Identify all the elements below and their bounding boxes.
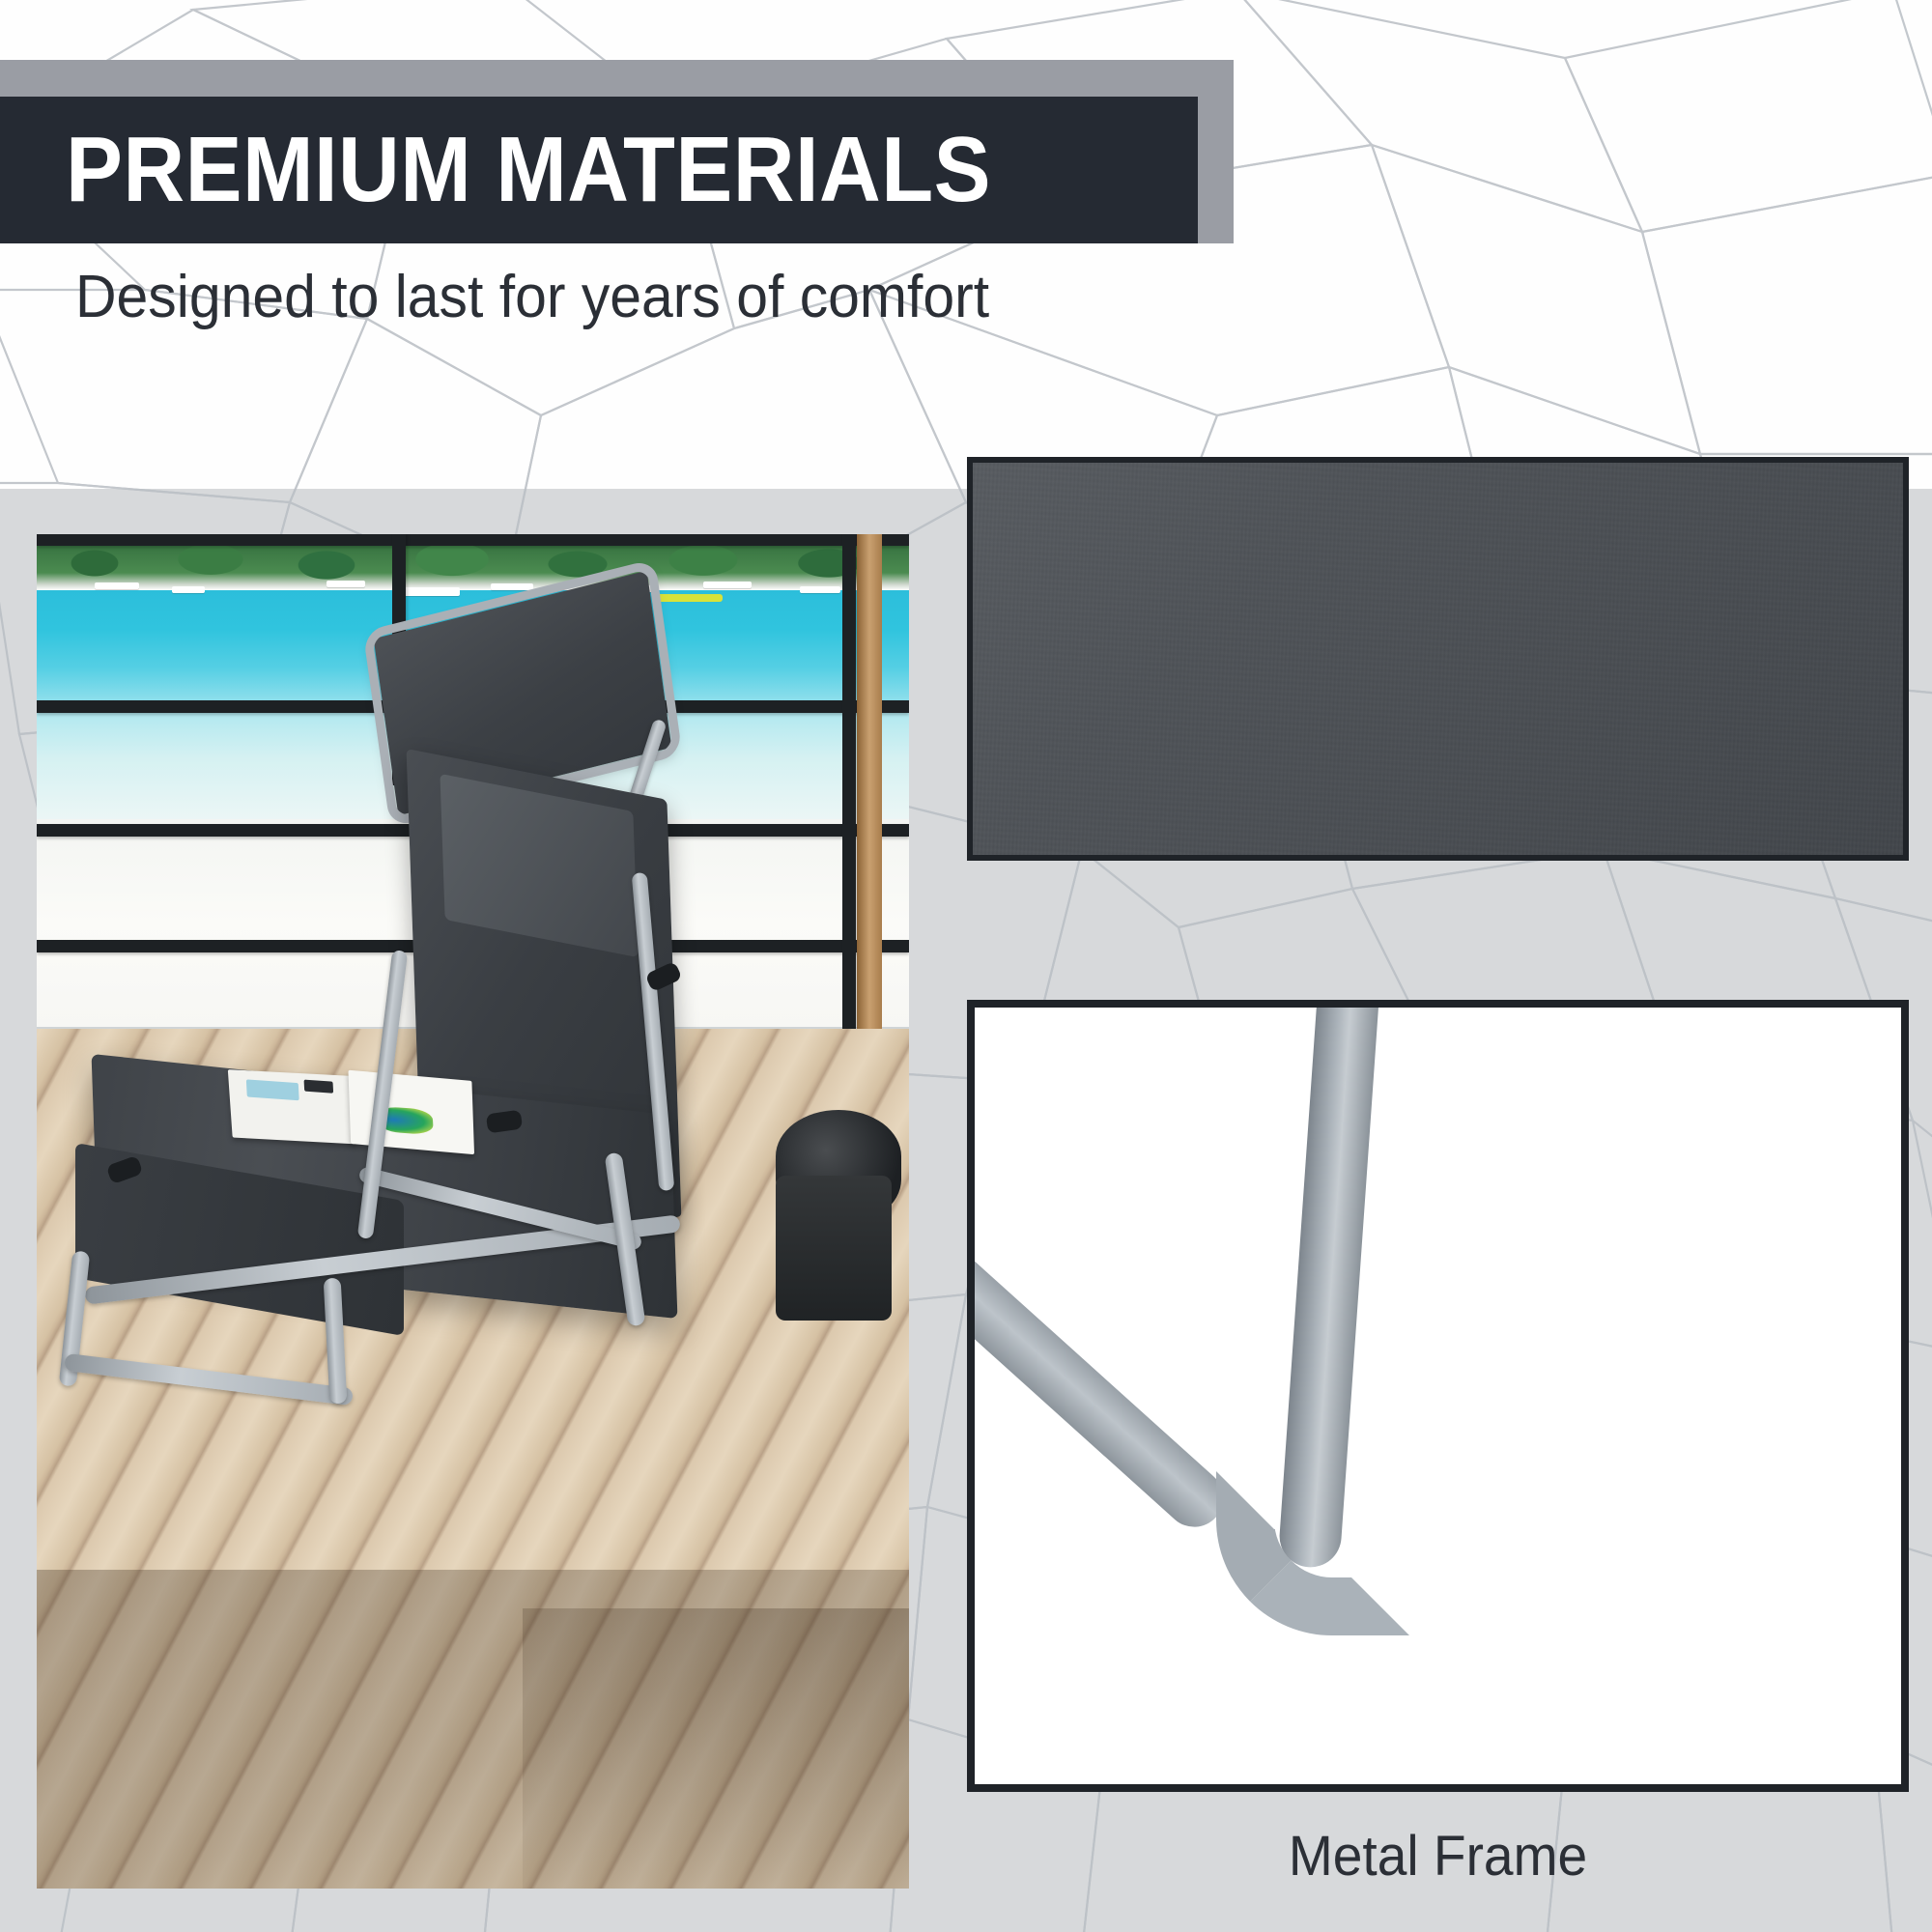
lifestyle-photo (37, 534, 909, 1889)
metal-frame-photo (967, 1000, 1909, 1792)
title-banner: PREMIUM MATERIALS (0, 97, 1198, 243)
page-subtitle: Designed to last for years of comfort (75, 263, 989, 331)
metal-tube-bend (1216, 1471, 1409, 1635)
durable-oxford-cover-swatch (967, 457, 1909, 861)
frame-tube-front-foot (64, 1353, 354, 1406)
page-title: PREMIUM MATERIALS (66, 124, 991, 216)
sun-lounger (37, 534, 909, 1889)
metal-tube-diagonal (967, 1218, 1236, 1539)
infographic-root: PREMIUM MATERIALS Designed to last for y… (0, 0, 1932, 1932)
metal-frame-label: Metal Frame (990, 1824, 1885, 1889)
